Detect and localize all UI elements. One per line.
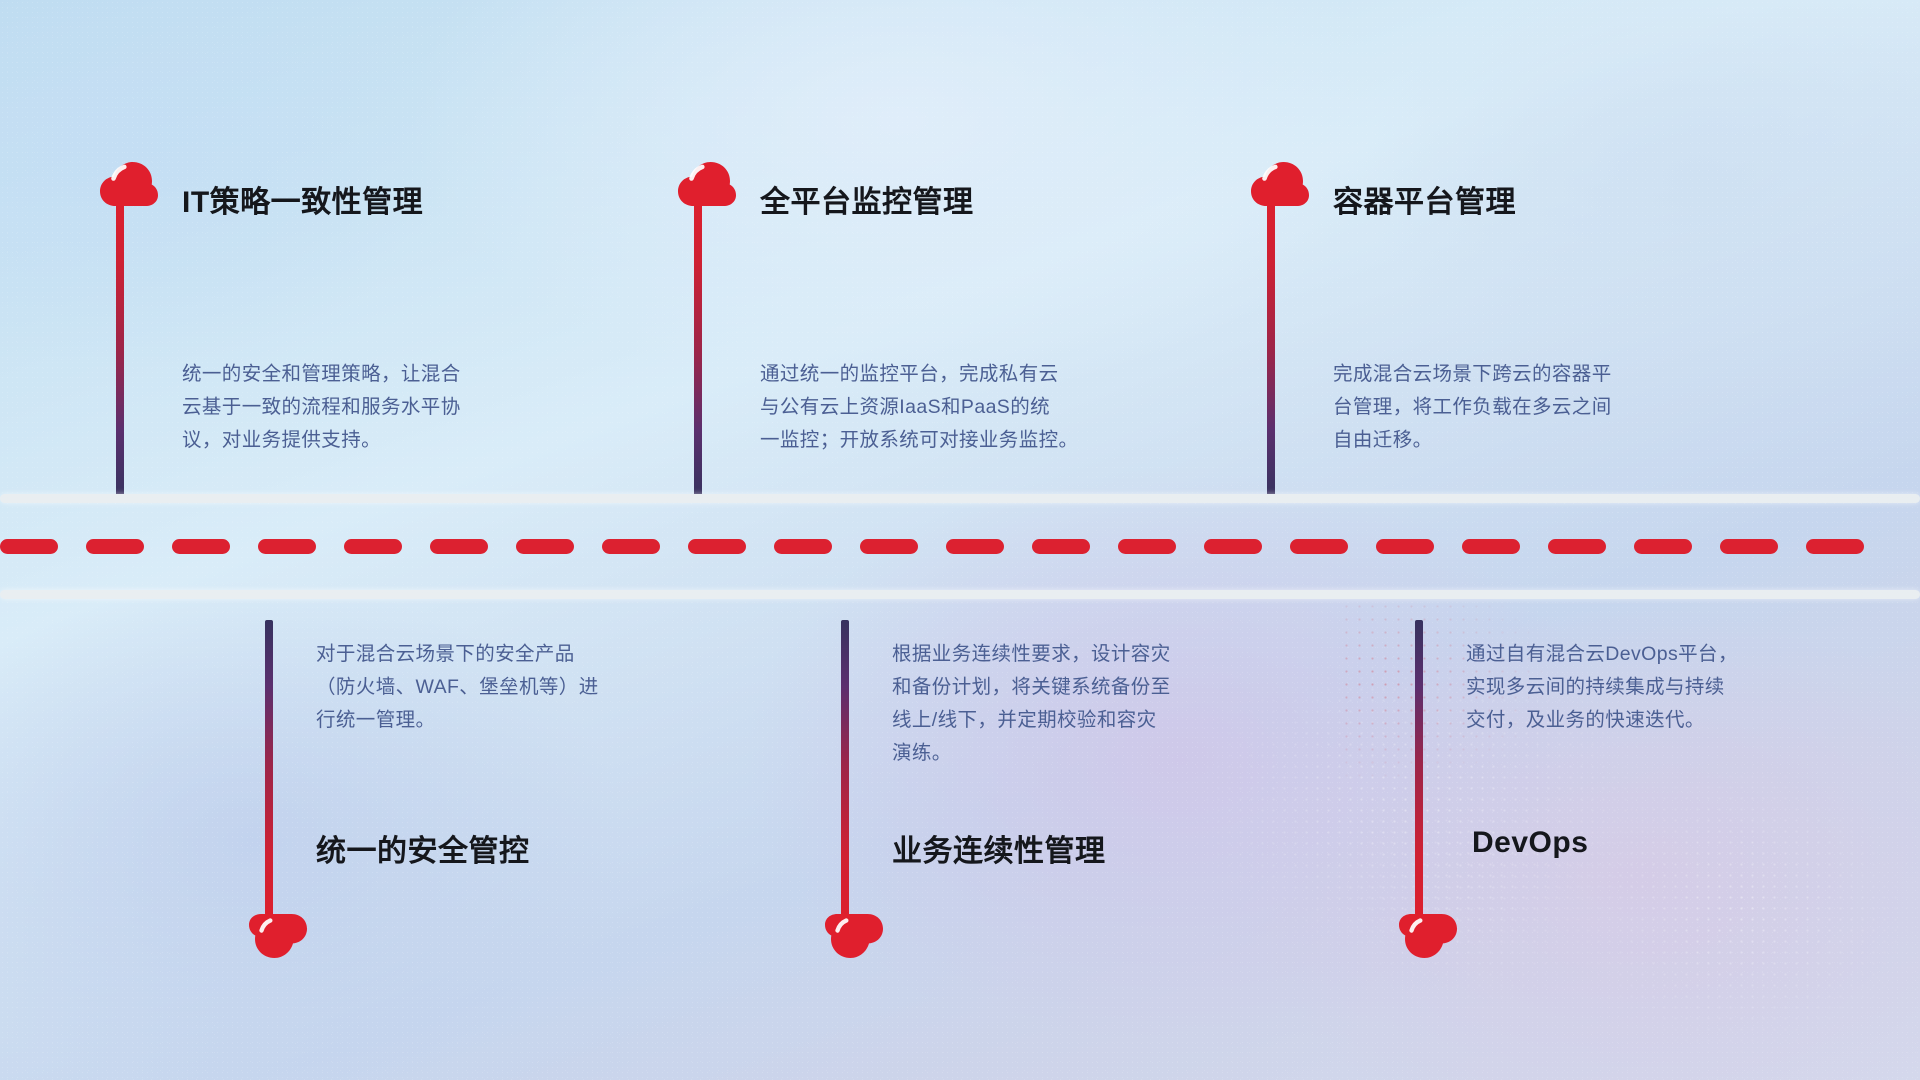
feature-title: DevOps	[1472, 826, 1588, 860]
road-dash	[1462, 539, 1520, 554]
description-line: 对于混合云场景下的安全产品	[316, 638, 599, 671]
infographic-canvas: IT策略一致性管理 统一的安全和管理策略，让混合 云基于一致的流程和服务水平协 …	[0, 0, 1920, 1080]
description-line: 议，对业务提供支持。	[182, 424, 461, 457]
feature-description: 通过自有混合云DevOps平台， 实现多云间的持续集成与持续 交付，及业务的快速…	[1466, 638, 1738, 737]
road-dash	[1806, 539, 1864, 554]
road-dash	[1548, 539, 1606, 554]
road-dash	[774, 539, 832, 554]
description-line: 自由迁移。	[1333, 424, 1612, 457]
cloud-icon	[98, 160, 160, 208]
description-line: 通过自有混合云DevOps平台，	[1466, 638, 1738, 671]
road-dash	[860, 539, 918, 554]
road-dash	[344, 539, 402, 554]
description-line: 交付，及业务的快速迭代。	[1466, 704, 1738, 737]
feature-title: 容器平台管理	[1333, 177, 1516, 221]
cloud-icon	[1249, 160, 1311, 208]
description-line: 根据业务连续性要求，设计容灾	[892, 638, 1171, 671]
description-line: 云基于一致的流程和服务水平协	[182, 391, 461, 424]
stem-line	[841, 620, 849, 920]
road-line-top	[0, 494, 1920, 503]
feature-title: 全平台监控管理	[760, 177, 974, 221]
road-dash	[688, 539, 746, 554]
description-line: 通过统一的监控平台，完成私有云	[760, 358, 1078, 391]
road-dash	[1290, 539, 1348, 554]
feature-description: 通过统一的监控平台，完成私有云 与公有云上资源IaaS和PaaS的统 一监控；开…	[760, 358, 1078, 457]
feature-title: IT策略一致性管理	[182, 177, 423, 221]
cloud-icon	[1397, 912, 1459, 960]
road-line-bottom	[0, 590, 1920, 599]
description-line: 统一的安全和管理策略，让混合	[182, 358, 461, 391]
description-line: 和备份计划，将关键系统备份至	[892, 671, 1171, 704]
decorative-dot-field	[1560, 760, 1920, 1060]
description-line: 台管理，将工作负载在多云之间	[1333, 391, 1612, 424]
road-dash	[516, 539, 574, 554]
cloud-icon	[676, 160, 738, 208]
stem-line	[1415, 620, 1423, 920]
stem-line	[265, 620, 273, 920]
stem-line	[116, 196, 124, 496]
road-dash	[0, 539, 58, 554]
description-line: 演练。	[892, 737, 1171, 770]
road-dash-row	[0, 538, 1920, 554]
description-line: 与公有云上资源IaaS和PaaS的统	[760, 391, 1078, 424]
cloud-icon	[247, 912, 309, 960]
feature-description: 统一的安全和管理策略，让混合 云基于一致的流程和服务水平协 议，对业务提供支持。	[182, 358, 461, 457]
road-dash	[946, 539, 1004, 554]
feature-title: 业务连续性管理	[892, 826, 1106, 870]
description-line: 实现多云间的持续集成与持续	[1466, 671, 1738, 704]
road-dash	[1118, 539, 1176, 554]
description-line: 完成混合云场景下跨云的容器平	[1333, 358, 1612, 391]
road-dash	[258, 539, 316, 554]
road-dash	[1376, 539, 1434, 554]
road-dash	[1720, 539, 1778, 554]
road-dash	[1032, 539, 1090, 554]
road-divider	[0, 486, 1920, 606]
description-line: 一监控；开放系统可对接业务监控。	[760, 424, 1078, 457]
feature-title: 统一的安全管控	[316, 826, 530, 870]
description-line: 线上/线下，并定期校验和容灾	[892, 704, 1171, 737]
road-dash	[602, 539, 660, 554]
decorative-dot-field	[1320, 760, 1620, 1020]
road-dash	[172, 539, 230, 554]
feature-description: 完成混合云场景下跨云的容器平 台管理，将工作负载在多云之间 自由迁移。	[1333, 358, 1612, 457]
feature-description: 对于混合云场景下的安全产品 （防火墙、WAF、堡垒机等）进 行统一管理。	[316, 638, 599, 737]
stem-line	[1267, 196, 1275, 496]
road-dash	[86, 539, 144, 554]
road-dash	[1204, 539, 1262, 554]
description-line: 行统一管理。	[316, 704, 599, 737]
stem-line	[694, 196, 702, 496]
cloud-icon	[823, 912, 885, 960]
feature-description: 根据业务连续性要求，设计容灾 和备份计划，将关键系统备份至 线上/线下，并定期校…	[892, 638, 1171, 770]
description-line: （防火墙、WAF、堡垒机等）进	[316, 671, 599, 704]
road-dash	[1634, 539, 1692, 554]
road-dash	[430, 539, 488, 554]
